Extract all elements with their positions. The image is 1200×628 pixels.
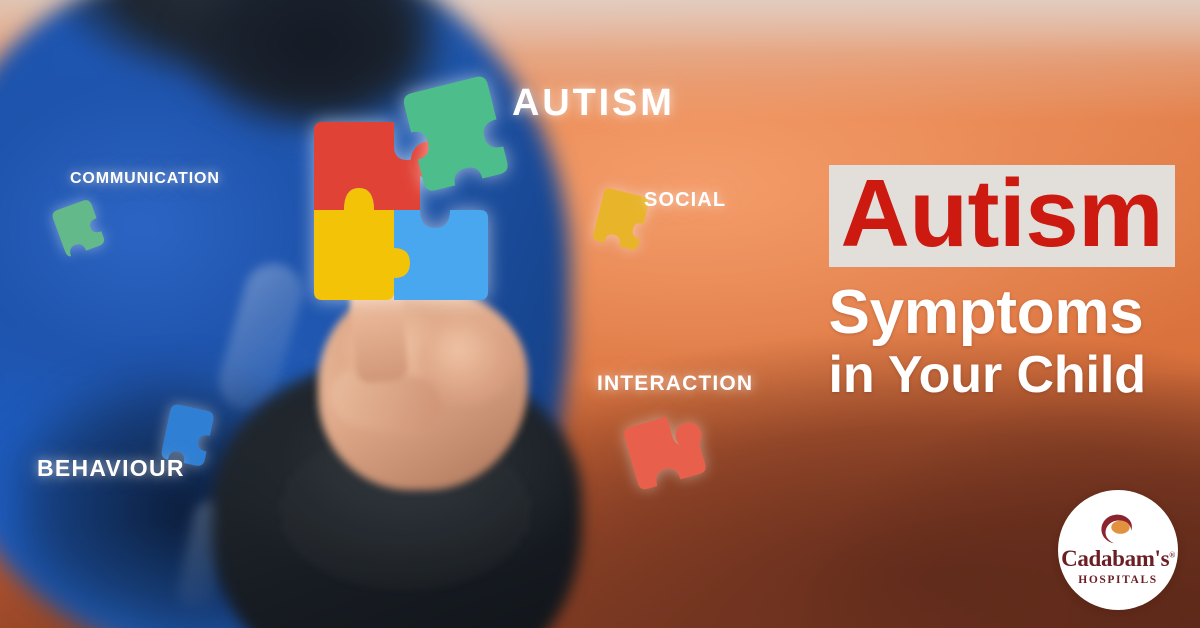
puzzle-piece-interaction xyxy=(622,412,714,504)
headline-highlight-band: Autism xyxy=(829,165,1175,267)
logo-subtitle: HOSPITALS xyxy=(1078,574,1157,586)
autism-awareness-banner: AUTISM SOCIAL INTERACTION BEHAVIOUR COMM… xyxy=(0,0,1200,628)
label-social: SOCIAL xyxy=(644,189,726,212)
logo-registered-mark: ® xyxy=(1169,550,1175,559)
cadabams-logo[interactable]: Cadabam's® HOSPITALS xyxy=(1058,490,1178,610)
puzzle-piece-communication xyxy=(48,198,114,258)
puzzle-piece-green-floating xyxy=(392,78,518,200)
label-behaviour: BEHAVIOUR xyxy=(37,455,185,482)
c-swoosh-icon xyxy=(1095,514,1141,546)
puzzle-piece-social xyxy=(590,188,652,250)
headline-block: Autism Symptoms in Your Child xyxy=(829,165,1175,403)
headline-line-1: Autism xyxy=(841,167,1163,261)
headline-line-2: Symptoms xyxy=(829,281,1175,344)
logo-wordmark: Cadabam's® xyxy=(1061,547,1175,570)
logo-name: Cadabam's xyxy=(1061,546,1169,571)
label-autism: AUTISM xyxy=(512,82,675,125)
label-communication: COMMUNICATION xyxy=(70,170,220,188)
label-interaction: INTERACTION xyxy=(597,372,753,396)
headline-line-3: in Your Child xyxy=(829,348,1175,403)
